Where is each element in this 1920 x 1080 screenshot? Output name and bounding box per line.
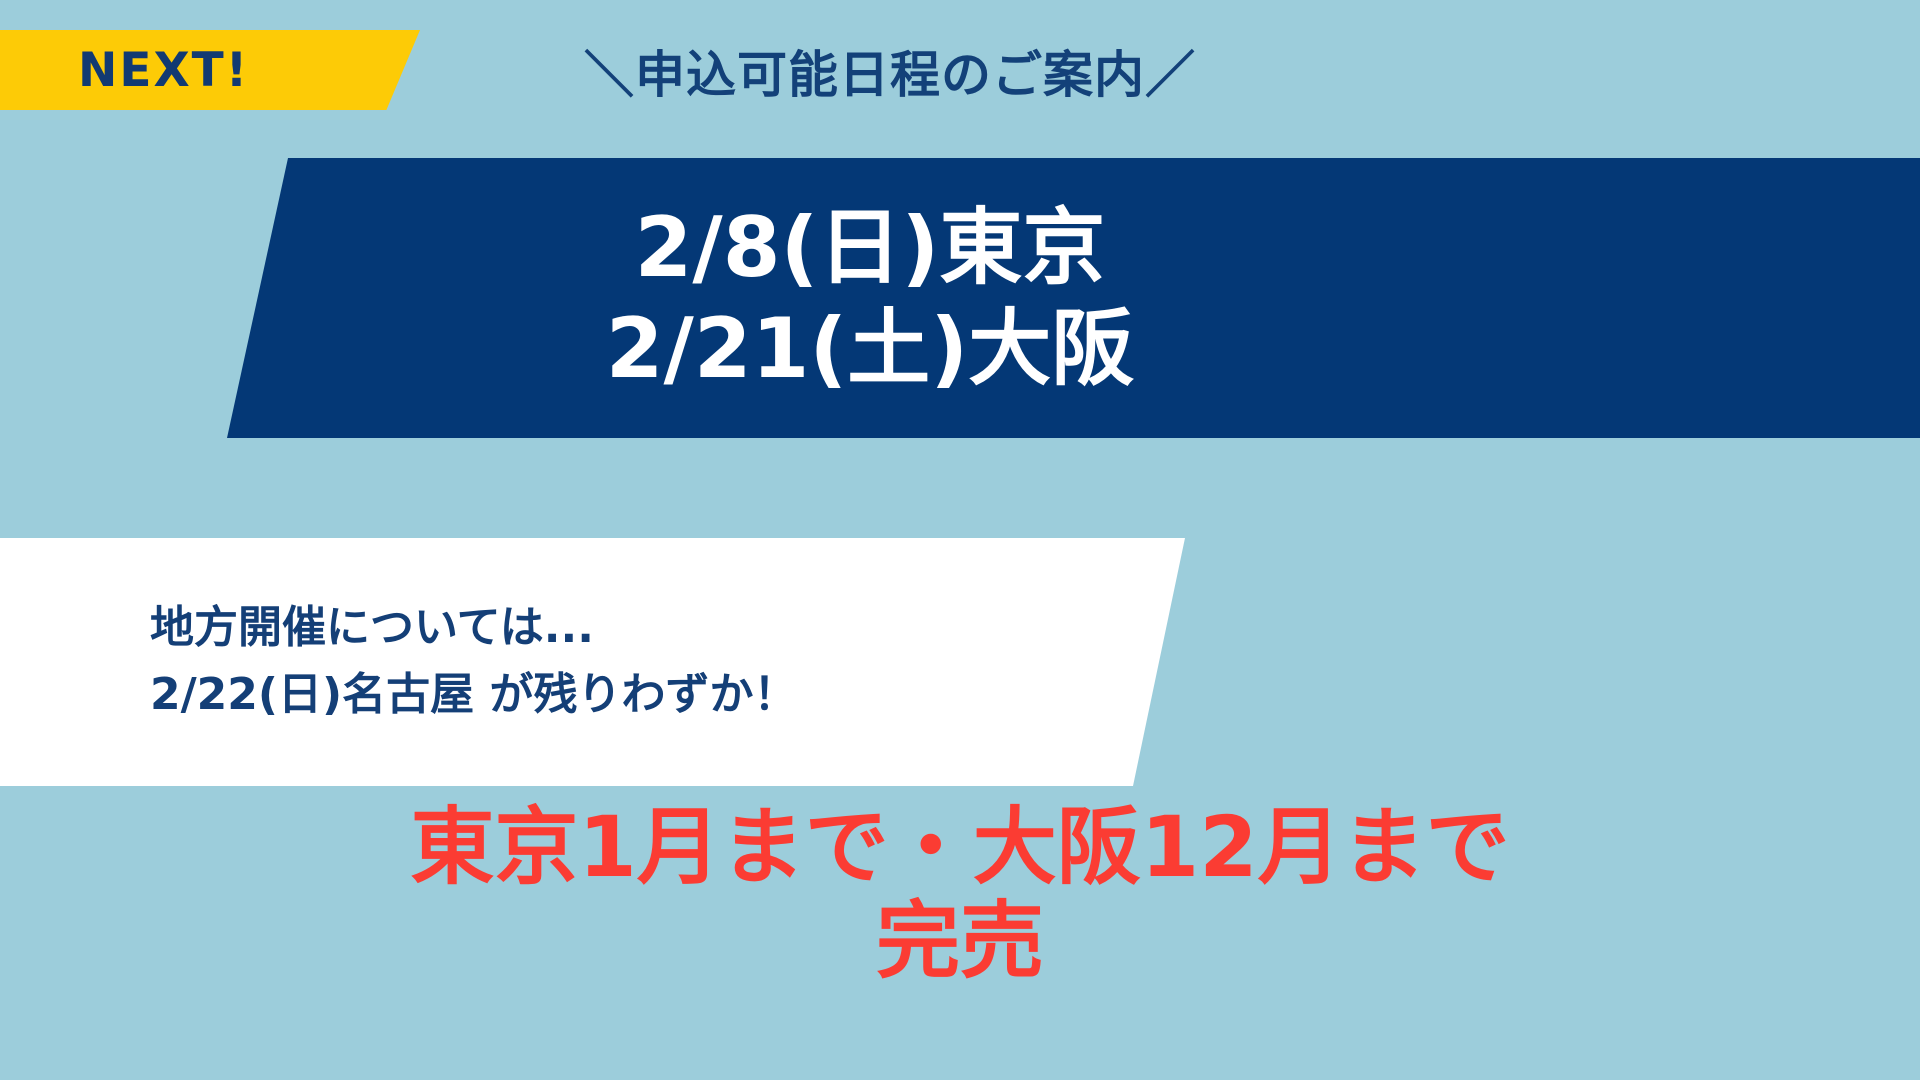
- next-badge-label: NEXT!: [78, 43, 249, 98]
- note-row-intro: 地方開催については...: [150, 595, 1250, 662]
- note-row-nagoya: 2/22(日)名古屋 が残りわずか！: [150, 662, 1250, 729]
- header-banner: ＼申込可能日程のご案内／: [480, 33, 1300, 109]
- header-title: ＼申込可能日程のご案内／: [584, 35, 1196, 107]
- soldout-row-months: 東京1月まで・大阪12月まで: [410, 800, 1509, 894]
- dates-banner: 2/8(日)東京 2/21(土)大阪: [0, 158, 1920, 438]
- date-row-osaka: 2/21(土)大阪: [0, 298, 1920, 399]
- date-row-tokyo: 2/8(日)東京: [0, 197, 1920, 298]
- promo-poster: NEXT! ＼申込可能日程のご案内／ 2/8(日)東京 2/21(土)大阪 地方…: [0, 0, 1920, 1080]
- soldout-notice: 東京1月まで・大阪12月まで 完売: [0, 800, 1920, 1050]
- next-badge: NEXT!: [0, 30, 420, 110]
- soldout-row-label: 完売: [876, 894, 1044, 988]
- regional-note-panel: 地方開催については... 2/22(日)名古屋 が残りわずか！: [0, 538, 1250, 786]
